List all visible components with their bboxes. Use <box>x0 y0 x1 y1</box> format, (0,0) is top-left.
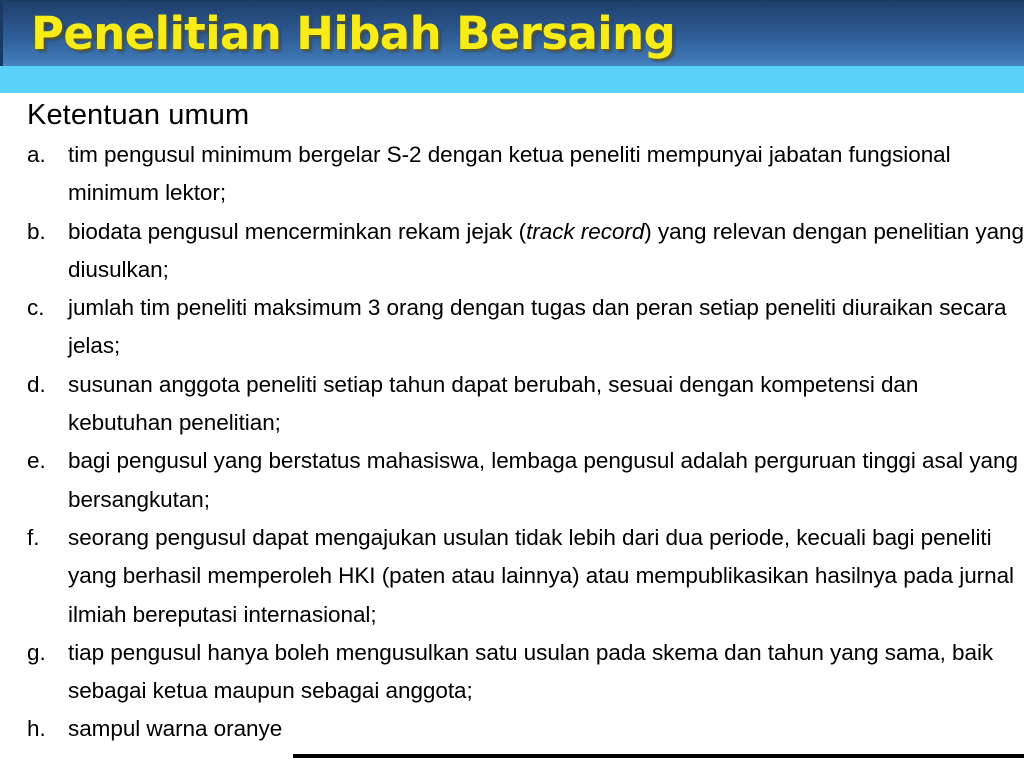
list-item-text: jumlah tim peneliti maksimum 3 orang den… <box>68 289 1024 366</box>
list-item-text-before: susunan anggota peneliti setiap tahun da… <box>68 372 918 435</box>
slide-header-banner: Penelitian Hibah Bersaing <box>0 0 1024 66</box>
section-heading: Ketentuan umum <box>27 96 1024 134</box>
list-item-marker: f. <box>27 519 61 557</box>
list-item-text: biodata pengusul mencerminkan rekam jeja… <box>68 213 1024 290</box>
list-item: e. bagi pengusul yang berstatus mahasisw… <box>0 442 1024 519</box>
list-item-text-before: seorang pengusul dapat mengajukan usulan… <box>68 525 1014 627</box>
list-item: c. jumlah tim peneliti maksimum 3 orang … <box>0 289 1024 366</box>
list-item: f. seorang pengusul dapat mengajukan usu… <box>0 519 1024 634</box>
list-item-marker: c. <box>27 289 61 327</box>
list-item-text: sampul warna oranye <box>68 710 1024 748</box>
list-item-marker: a. <box>27 136 61 174</box>
page-title: Penelitian Hibah Bersaing <box>31 4 675 64</box>
list-item-marker: b. <box>27 213 61 251</box>
list-item: b. biodata pengusul mencerminkan rekam j… <box>0 213 1024 290</box>
header-accent-bar <box>0 66 1024 93</box>
list-item-text-before: biodata pengusul mencerminkan rekam jeja… <box>68 219 526 244</box>
list-item-marker: h. <box>27 710 61 748</box>
list-item-text: tiap pengusul hanya boleh mengusulkan sa… <box>68 634 1024 711</box>
list-item: g. tiap pengusul hanya boleh mengusulkan… <box>0 634 1024 711</box>
list-item-text-before: tim pengusul minimum bergelar S-2 dengan… <box>68 142 951 205</box>
list-item-text-before: bagi pengusul yang berstatus mahasiswa, … <box>68 448 1018 511</box>
list-item-marker: d. <box>27 366 61 404</box>
rules-list: a. tim pengusul minimum bergelar S-2 den… <box>0 136 1024 749</box>
bottom-divider <box>293 754 1024 758</box>
list-item-text-before: tiap pengusul hanya boleh mengusulkan sa… <box>68 640 993 703</box>
list-item-text-italic: track record <box>526 219 644 244</box>
list-item-text-before: sampul warna oranye <box>68 716 282 741</box>
slide-content: Ketentuan umum a. tim pengusul minimum b… <box>0 96 1024 749</box>
list-item-text: tim pengusul minimum bergelar S-2 dengan… <box>68 136 1024 213</box>
list-item-marker: e. <box>27 442 61 480</box>
list-item-text: bagi pengusul yang berstatus mahasiswa, … <box>68 442 1024 519</box>
list-item: d. susunan anggota peneliti setiap tahun… <box>0 366 1024 443</box>
list-item: h. sampul warna oranye <box>0 710 1024 748</box>
list-item-text: seorang pengusul dapat mengajukan usulan… <box>68 519 1024 634</box>
list-item-marker: g. <box>27 634 61 672</box>
list-item-text: susunan anggota peneliti setiap tahun da… <box>68 366 1024 443</box>
list-item: a. tim pengusul minimum bergelar S-2 den… <box>0 136 1024 213</box>
list-item-text-before: jumlah tim peneliti maksimum 3 orang den… <box>68 295 1006 358</box>
